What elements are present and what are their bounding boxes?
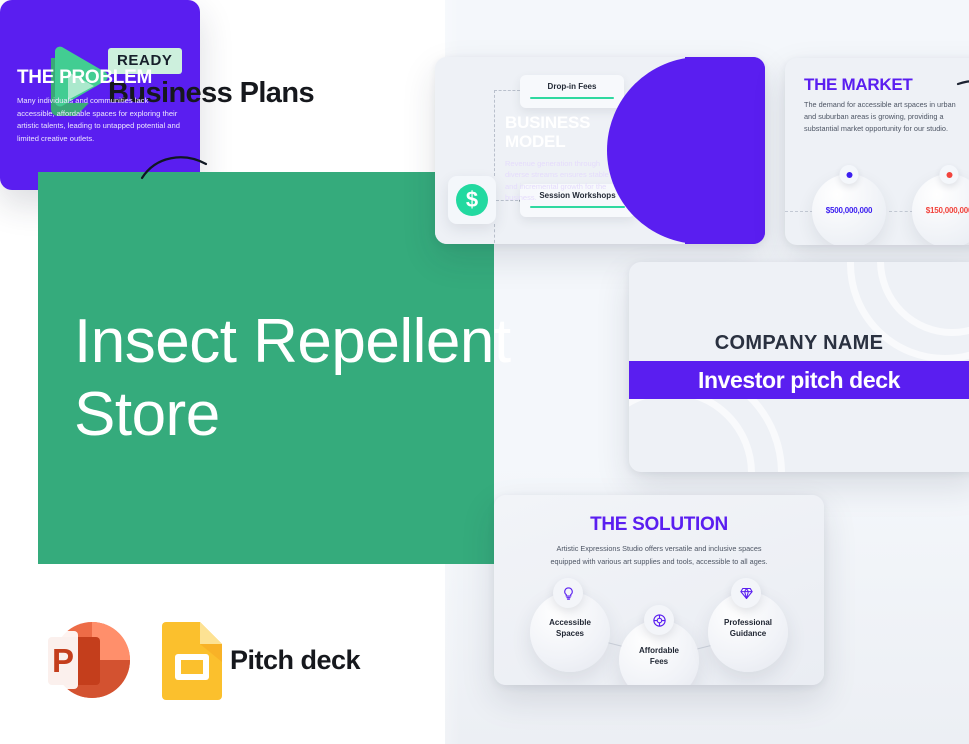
connector-line-top [494,90,520,91]
promo-canvas: Insect Repellent Store READY Business Pl… [0,0,969,744]
dollar-sign-icon: $ [456,184,488,216]
pillar-label: Accessible Spaces [530,617,610,640]
metric-dot-bubble [940,165,959,184]
pitch-deck-band: Investor pitch deck [629,361,969,399]
slide-business-model[interactable]: $ Drop-in Fees Session Workshops Commiss… [435,57,765,244]
business-model-purple-block [685,57,765,244]
slide-title: BUSINESS MODEL [505,113,625,151]
market-dash-mid [889,211,913,212]
slide-subtitle: Revenue generation through diverse strea… [505,158,623,203]
svg-text:P: P [52,642,74,679]
slide-title: THE PROBLEM [17,67,152,89]
diamond-icon [731,578,761,608]
revenue-item-0[interactable]: Drop-in Fees [520,75,624,108]
slide-problem[interactable]: THE PROBLEM Many individuals and communi… [0,0,200,190]
slide-solution[interactable]: THE SOLUTION Artistic Expressions Studio… [494,495,824,685]
company-name-label: COMPANY NAME [629,332,969,355]
metric-dot-bubble [840,165,859,184]
underline-accent [530,206,625,208]
format-label: Pitch deck [230,645,360,676]
slide-body: Artistic Expressions Studio offers versa… [544,543,774,568]
slide-body: The demand for accessible art spaces in … [804,99,959,134]
dollar-icon-tile: $ [448,176,496,224]
market-dash-left [785,211,813,212]
connector-line-up [494,90,495,176]
pillar-label: Professional Guidance [708,617,788,640]
slide-market[interactable]: THE MARKET The demand for accessible art… [785,58,969,245]
slide-title: THE SOLUTION [494,514,824,536]
lightbulb-icon [553,578,583,608]
slide-body: Many individuals and communities lack ac… [17,95,182,145]
market-metric-0[interactable]: $500,000,000 [812,174,886,245]
market-metric-1[interactable]: $150,000,000 [912,174,969,245]
metric-value: $150,000,000 [912,206,969,215]
slide-title: Investor pitch deck [629,361,969,399]
revenue-item-label: Drop-in Fees [530,82,614,91]
page-title: Insect Repellent Store [74,305,594,451]
slide-company-name[interactable]: COMPANY NAME Investor pitch deck [629,262,969,472]
lifebuoy-icon [644,605,674,635]
connector-line-down [494,224,495,244]
slide-title: THE MARKET [804,75,912,95]
powerpoint-icon: P [40,617,132,703]
metric-value: $500,000,000 [812,206,886,215]
underline-accent [530,97,614,99]
problem-curved-arrow-icon [140,150,210,184]
google-slides-icon [158,622,226,700]
pillar-label: Affordable Fees [619,645,699,668]
